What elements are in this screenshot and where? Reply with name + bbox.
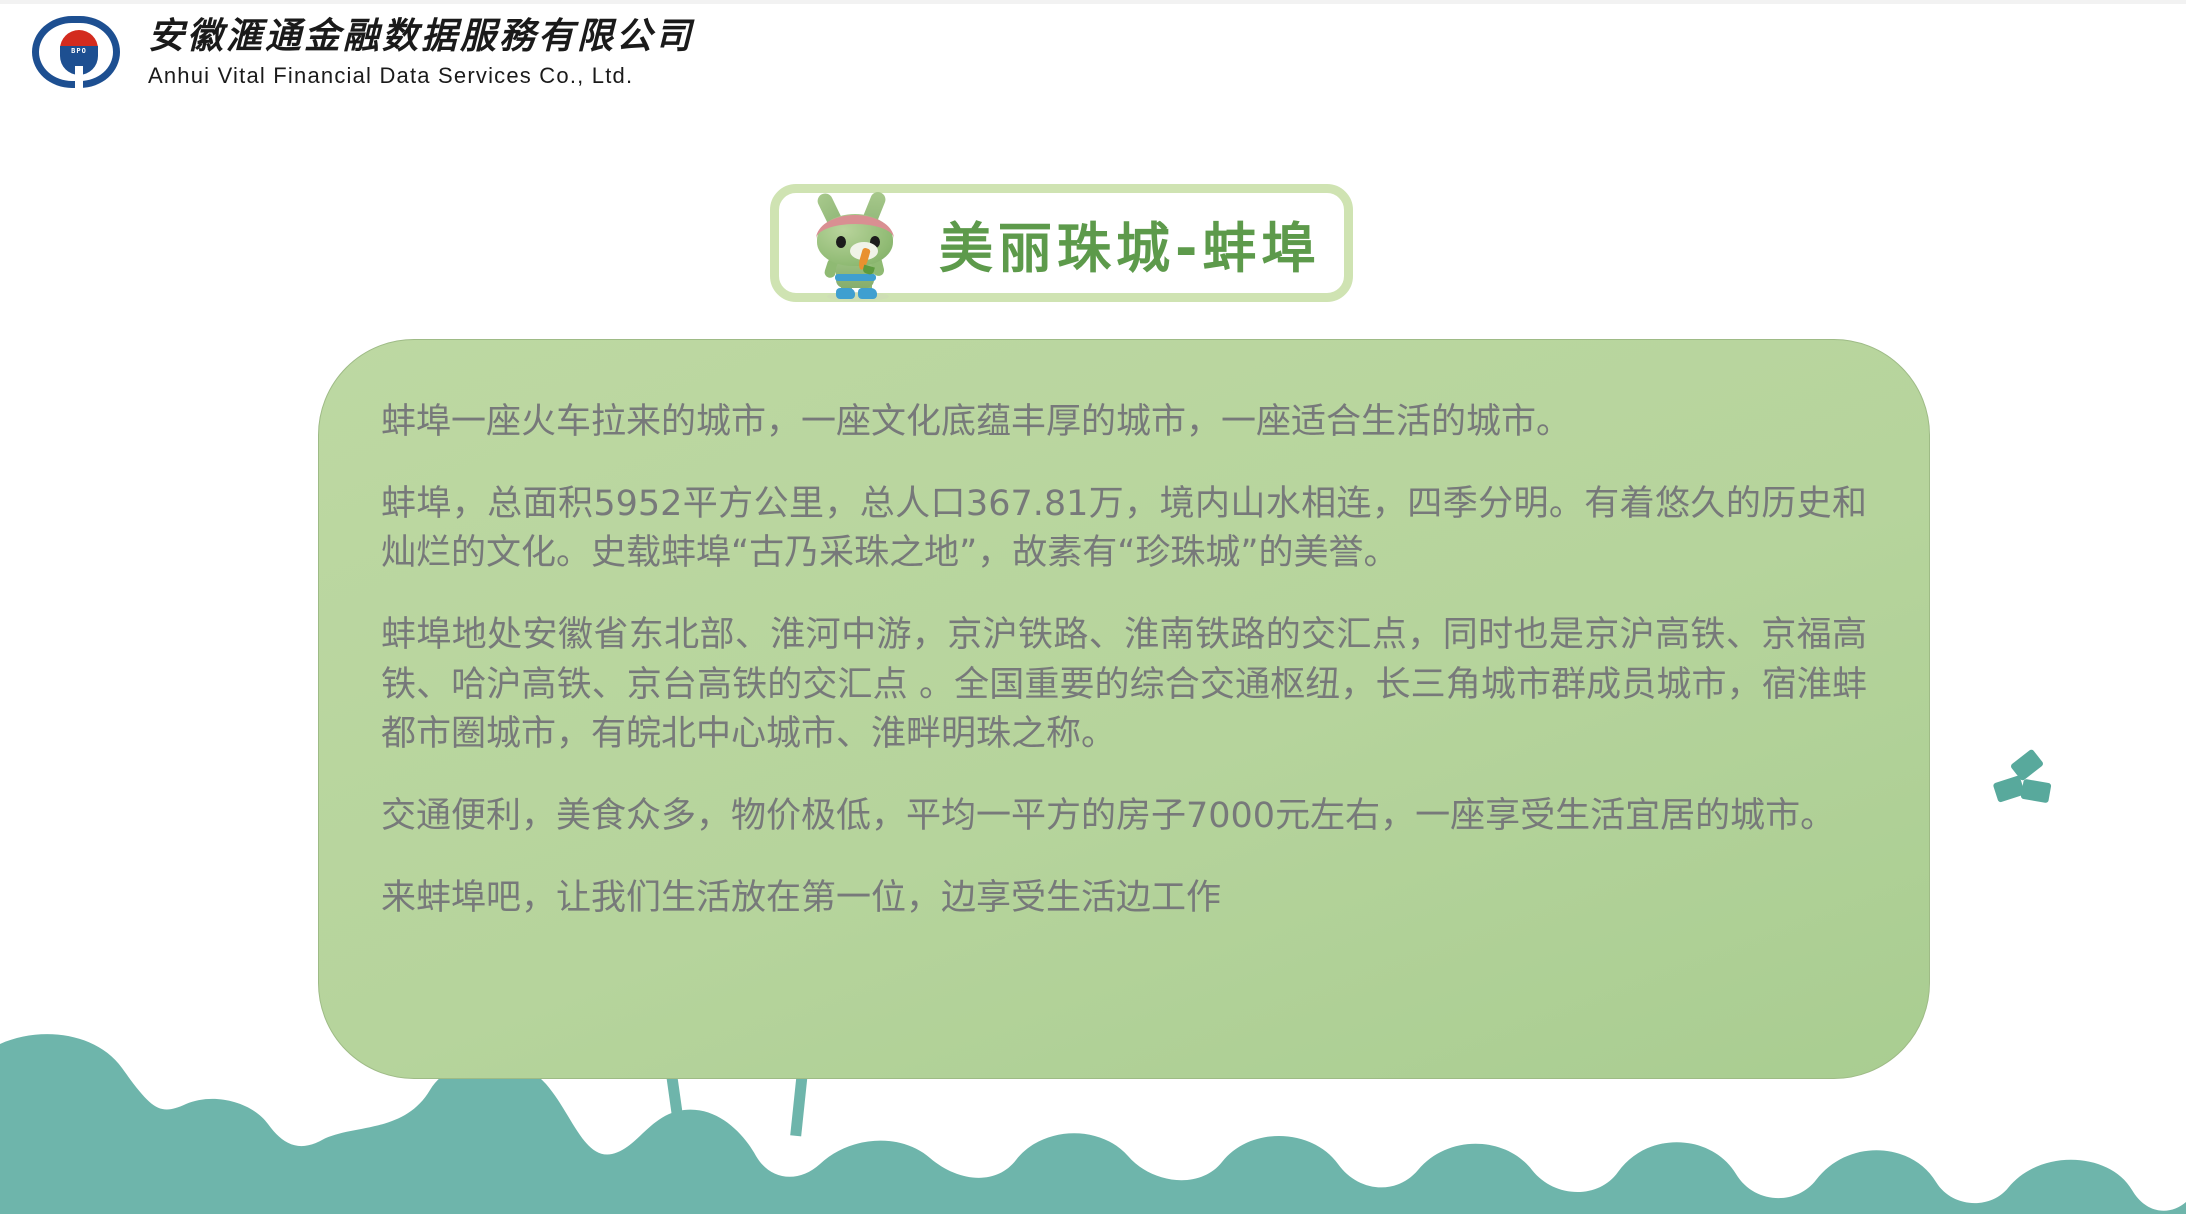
- page-title: 美丽珠城-蚌埠: [939, 204, 1320, 283]
- mascot-eye-left: [836, 236, 846, 248]
- petal-shape: [2020, 779, 2051, 804]
- mascot-boot-left: [836, 288, 855, 299]
- logo-notch-shape: [75, 66, 83, 88]
- paragraph-5: 来蚌埠吧，让我们生活放在第一位，边享受生活边工作: [381, 874, 1867, 924]
- page-header: BPO 安徽滙通金融数据服務有限公司 Anhui Vital Financial…: [30, 14, 694, 92]
- paragraph-4: 交通便利，美食众多，物价极低，平均一平方的房子7000元左右，一座享受生活宜居的…: [381, 792, 1867, 842]
- content-card: 蚌埠一座火车拉来的城市，一座文化底蕴丰厚的城市，一座适合生活的城市。 蚌埠，总面…: [318, 339, 1930, 1079]
- mascot-belt: [835, 274, 876, 281]
- three-petal-icon: [1995, 755, 2065, 815]
- company-name-english: Anhui Vital Financial Data Services Co.,…: [148, 62, 694, 91]
- content-body: 蚌埠一座火车拉来的城市，一座文化底蕴丰厚的城市，一座适合生活的城市。 蚌埠，总面…: [319, 340, 1929, 924]
- slide-title-banner: 美丽珠城-蚌埠: [770, 184, 1353, 302]
- petal-shape: [1993, 775, 2026, 803]
- paragraph-1: 蚌埠一座火车拉来的城市，一座文化底蕴丰厚的城市，一座适合生活的城市。: [381, 398, 1867, 448]
- bpo-company-logo-icon: BPO: [30, 14, 126, 92]
- paragraph-2: 蚌埠，总面积5952平方公里，总人口367.81万，境内山水相连，四季分明。有着…: [381, 480, 1867, 579]
- company-name-block: 安徽滙通金融数据服務有限公司 Anhui Vital Financial Dat…: [148, 15, 694, 91]
- paragraph-3: 蚌埠地处安徽省东北部、淮河中游，京沪铁路、淮南铁路的交汇点，同时也是京沪高铁、京…: [381, 611, 1867, 760]
- company-name-chinese: 安徽滙通金融数据服務有限公司: [148, 15, 694, 58]
- top-divider: [0, 0, 2186, 4]
- rabbit-mascot-icon: [791, 188, 923, 300]
- mascot-boot-right: [858, 288, 877, 299]
